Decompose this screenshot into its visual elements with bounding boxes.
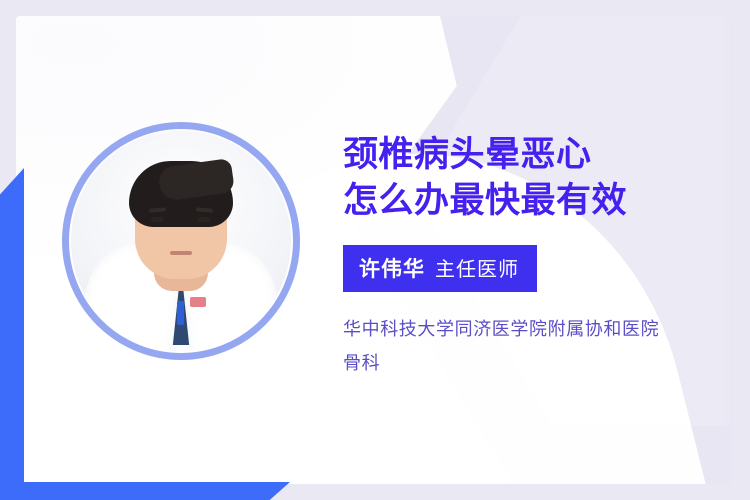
doctor-hospital: 华中科技大学同济医学院附属协和医院: [343, 312, 735, 346]
doctor-name: 许伟华: [359, 258, 425, 281]
doctor-department: 骨科: [343, 346, 735, 380]
article-title: 颈椎病头晕恶心 怎么办最快最有效: [343, 132, 735, 224]
avatar: [62, 122, 300, 360]
doctor-profile-card: 颈椎病头晕恶心 怎么办最快最有效 许伟华主任医师 华中科技大学同济医学院附属协和…: [0, 0, 750, 500]
doctor-name-badge: 许伟华主任医师: [343, 245, 537, 292]
accent-bar-left: [0, 168, 24, 500]
doctor-rank: 主任医师: [435, 259, 519, 281]
accent-bar-bottom: [0, 482, 290, 500]
info-column: 颈椎病头晕恶心 怎么办最快最有效 许伟华主任医师 华中科技大学同济医学院附属协和…: [343, 132, 735, 380]
avatar-ring: [62, 122, 300, 360]
